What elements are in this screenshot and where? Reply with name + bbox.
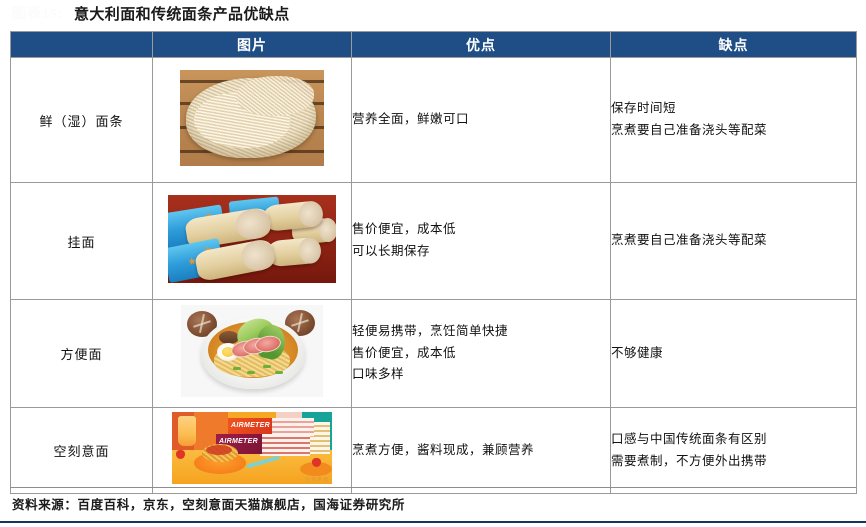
table-row: 挂面 售价便宜，成 <box>11 183 857 300</box>
scallion-topping <box>275 371 283 374</box>
figure-number-label: 图表15: <box>12 3 64 23</box>
table-body: 鲜（湿）面条 营养全面，鲜嫩可口 <box>11 58 857 494</box>
table-row: 鲜（湿）面条 营养全面，鲜嫩可口 <box>11 58 857 183</box>
source-divider <box>10 487 856 488</box>
row-image-cell <box>153 300 352 408</box>
row-cons-cell: 不够健康 <box>611 300 857 408</box>
airmeter-pasta-image: AIRMETER AIRMETER <box>172 412 332 484</box>
row-pros-cell: 轻便易携带，烹饪简单快捷 售价便宜，成本低 口味多样 <box>352 300 611 408</box>
row-category-name: 方便面 <box>11 300 153 408</box>
scallion-topping <box>263 365 271 368</box>
row-pros-cell: 营养全面，鲜嫩可口 <box>352 58 611 183</box>
con-line: 不够健康 <box>611 343 856 365</box>
column-header-image: 图片 <box>153 32 352 58</box>
pro-line: 售价便宜，成本低 <box>352 219 610 241</box>
table-header: 图片 优点 缺点 <box>11 32 857 58</box>
row-cons-cell: 口感与中国传统面条有区别 需要煮制，不方便外出携带 <box>611 408 857 494</box>
column-header-pros: 优点 <box>352 32 611 58</box>
pro-line: 烹煮方便，酱料现成，兼顾营养 <box>352 440 610 462</box>
page-title: 意大利面和传统面条产品优缺点 <box>74 3 290 24</box>
row-pros-cell: 售价便宜，成本低 可以长期保存 <box>352 183 611 300</box>
column-header-category <box>11 32 153 58</box>
row-image-cell <box>153 58 352 183</box>
fresh-noodles-image <box>180 70 324 166</box>
row-pros-cell: 烹煮方便，酱料现成，兼顾营养 <box>352 408 611 494</box>
pro-line: 营养全面，鲜嫩可口 <box>352 109 610 131</box>
noodle-pile <box>236 76 314 116</box>
page-bottom-rule <box>0 521 866 523</box>
product-box <box>260 434 310 456</box>
con-line: 保存时间短 <box>611 98 856 120</box>
dried-noodles-image <box>168 195 336 283</box>
table-header-row: 图片 优点 缺点 <box>11 32 857 58</box>
strawberry-icon <box>312 458 321 467</box>
row-category-name: 空刻意面 <box>11 408 153 494</box>
comparison-table: 图片 优点 缺点 鲜（湿）面条 <box>10 31 857 494</box>
pro-line: 可以长期保存 <box>352 241 610 263</box>
instant-noodle-bowl-image <box>181 305 323 397</box>
comparison-table-wrapper: 图片 优点 缺点 鲜（湿）面条 <box>10 31 856 494</box>
con-line: 烹煮要自己准备浇头等配菜 <box>611 230 856 252</box>
pro-line: 轻便易携带，烹饪简单快捷 <box>352 321 610 343</box>
row-cons-cell: 烹煮要自己准备浇头等配菜 <box>611 183 857 300</box>
con-line: 烹煮要自己准备浇头等配菜 <box>611 120 856 142</box>
table-row: 方便面 <box>11 300 857 408</box>
brand-text: AIRMETER <box>231 422 270 429</box>
column-header-cons: 缺点 <box>611 32 857 58</box>
row-category-name: 鲜（湿）面条 <box>11 58 153 183</box>
pro-line: 售价便宜，成本低 <box>352 343 610 365</box>
row-image-cell: AIRMETER AIRMETER <box>153 408 352 494</box>
tomato-sauce <box>206 445 232 455</box>
image-watermark: 空刻意面 <box>305 476 329 483</box>
row-category-name: 挂面 <box>11 183 153 300</box>
scallion-topping <box>247 371 255 374</box>
scallion-topping <box>233 367 241 370</box>
con-line: 需要煮制，不方便外出携带 <box>611 451 856 473</box>
strawberry-icon <box>176 450 185 459</box>
row-cons-cell: 保存时间短 烹煮要自己准备浇头等配菜 <box>611 58 857 183</box>
noodle-bundle <box>267 236 321 266</box>
con-line: 口感与中国传统面条有区别 <box>611 429 856 451</box>
table-row: 空刻意面 AIRMETER <box>11 408 857 494</box>
figure-page: 图表15: 意大利面和传统面条产品优缺点 图片 优点 缺点 鲜（湿）面条 <box>0 0 866 527</box>
source-note: 资料来源：百度百科，京东，空刻意面天猫旗舰店，国海证券研究所 <box>12 494 405 513</box>
lemonade-glass <box>178 416 196 446</box>
pro-line: 口味多样 <box>352 364 610 386</box>
row-image-cell <box>153 183 352 300</box>
